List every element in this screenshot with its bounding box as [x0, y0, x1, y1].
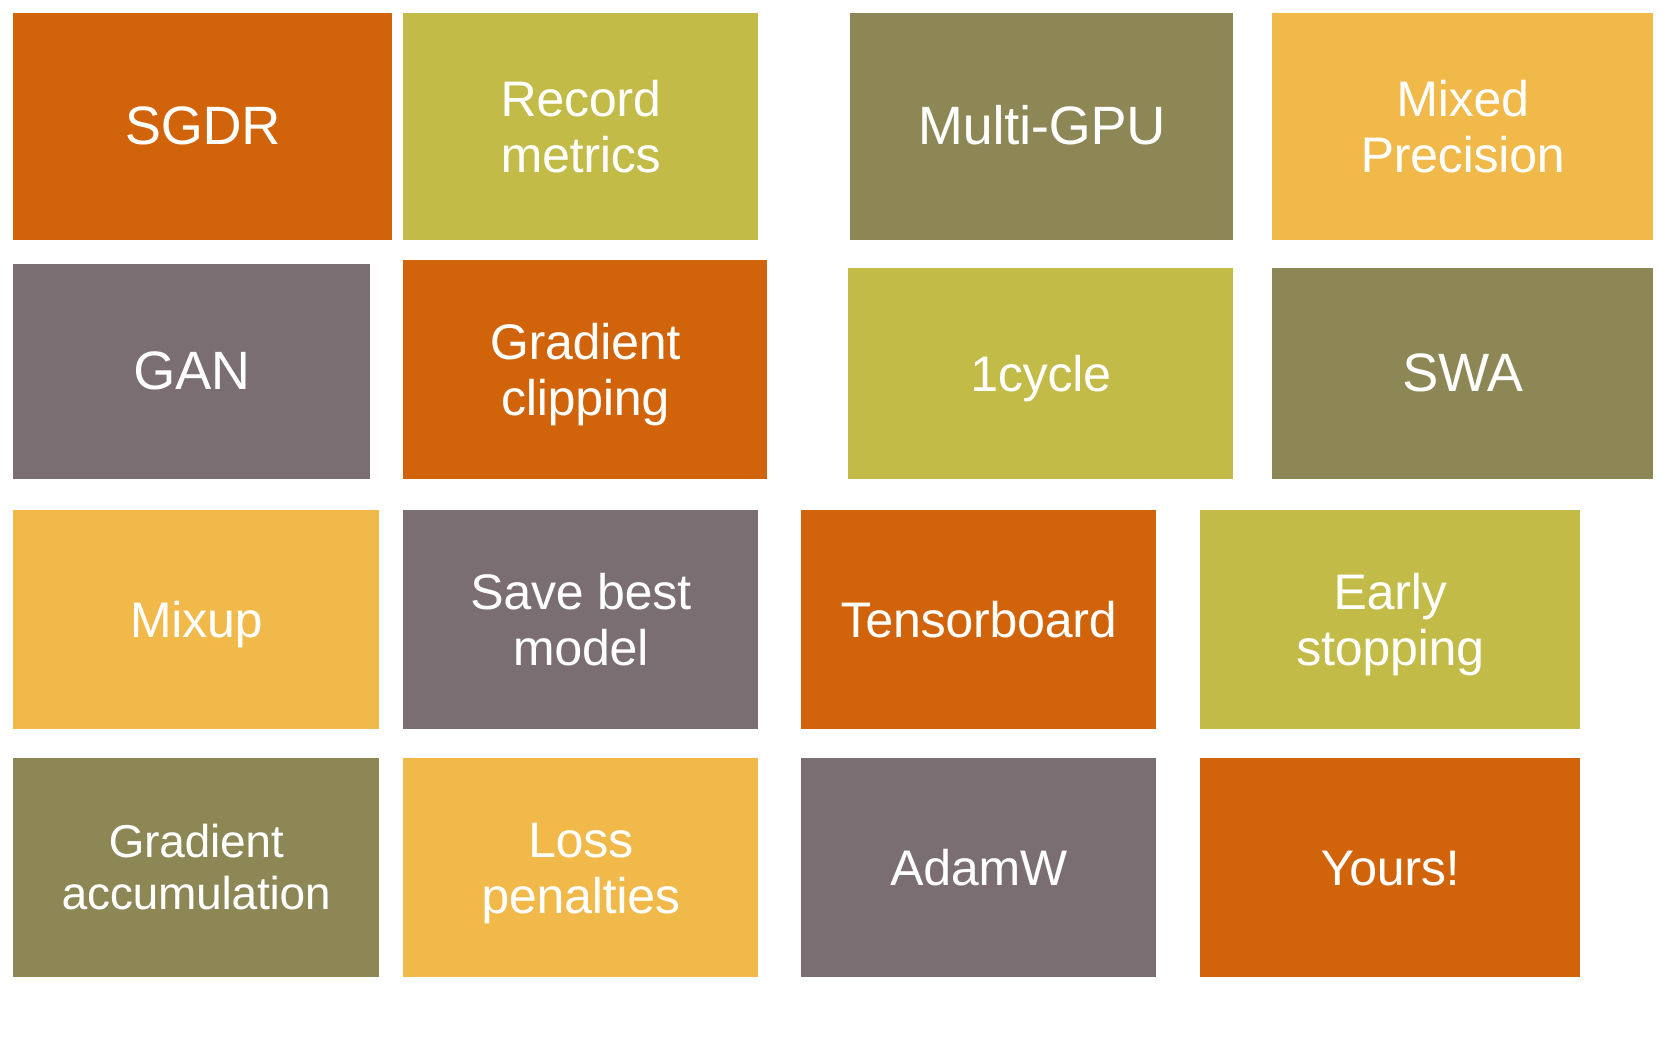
- tile-mixup[interactable]: Mixup: [13, 510, 379, 729]
- tile-mixed-precision[interactable]: Mixed Precision: [1272, 13, 1653, 240]
- tile-label-sgdr: SGDR: [119, 96, 286, 156]
- tile-label-gradient-clipping: Gradient clipping: [484, 314, 686, 426]
- tile-multi-gpu[interactable]: Multi-GPU: [850, 13, 1233, 240]
- tile-swa[interactable]: SWA: [1272, 268, 1653, 479]
- tile-label-mixed-precision: Mixed Precision: [1355, 71, 1571, 183]
- tile-1cycle[interactable]: 1cycle: [848, 268, 1233, 479]
- tile-gradient-accumulation[interactable]: Gradient accumulation: [13, 758, 379, 977]
- tile-adamw[interactable]: AdamW: [801, 758, 1156, 977]
- tile-yours[interactable]: Yours!: [1200, 758, 1580, 977]
- tile-label-adamw: AdamW: [884, 840, 1073, 896]
- tile-loss-penalties[interactable]: Loss penalties: [403, 758, 758, 977]
- tile-tensorboard[interactable]: Tensorboard: [801, 510, 1156, 729]
- tile-sgdr[interactable]: SGDR: [13, 13, 392, 240]
- tile-label-gradient-accumulation: Gradient accumulation: [56, 816, 337, 919]
- tile-label-tensorboard: Tensorboard: [835, 592, 1123, 648]
- tile-record-metrics[interactable]: Record metrics: [403, 13, 758, 240]
- tile-label-gan: GAN: [127, 341, 255, 401]
- tile-save-best-model[interactable]: Save best model: [403, 510, 758, 729]
- tile-label-yours: Yours!: [1315, 840, 1466, 896]
- tile-grid: SGDRRecord metricsMulti-GPUMixed Precisi…: [0, 0, 1669, 1057]
- tile-label-1cycle: 1cycle: [964, 346, 1117, 402]
- tile-gradient-clipping[interactable]: Gradient clipping: [403, 260, 767, 479]
- tile-gan[interactable]: GAN: [13, 264, 370, 479]
- tile-label-loss-penalties: Loss penalties: [475, 812, 685, 924]
- tile-label-early-stopping: Early stopping: [1290, 564, 1489, 676]
- tile-early-stopping[interactable]: Early stopping: [1200, 510, 1580, 729]
- tile-label-multi-gpu: Multi-GPU: [912, 96, 1171, 156]
- tile-label-save-best-model: Save best model: [464, 564, 697, 676]
- tile-label-swa: SWA: [1396, 343, 1528, 403]
- tile-label-record-metrics: Record metrics: [495, 71, 667, 183]
- tile-label-mixup: Mixup: [124, 592, 268, 648]
